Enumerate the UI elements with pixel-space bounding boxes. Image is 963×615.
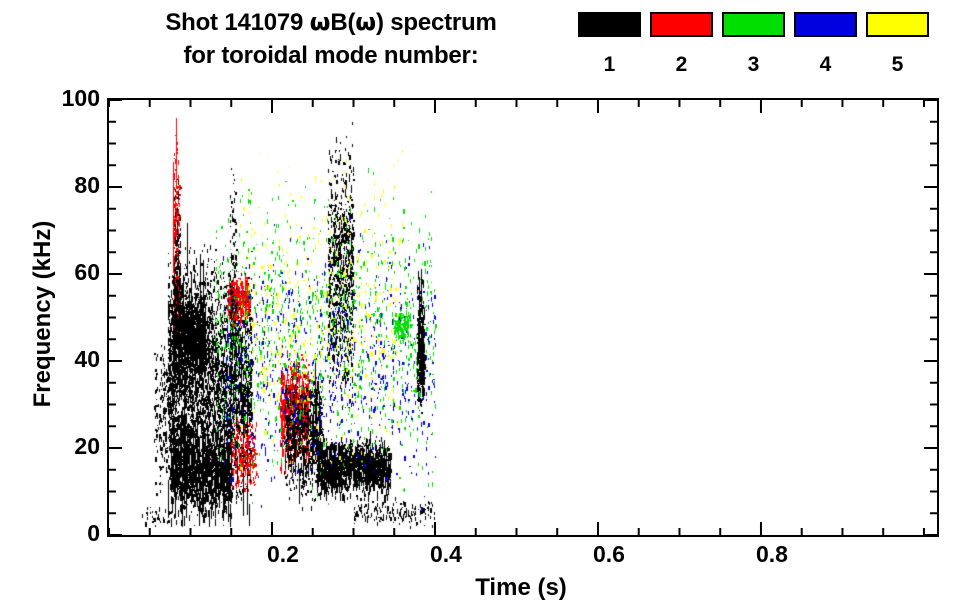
legend-swatch-row <box>578 12 929 37</box>
legend-swatch-mode-3 <box>722 12 785 37</box>
legend-swatch-mode-4 <box>794 12 857 37</box>
legend-label-mode-5: 5 <box>866 52 929 78</box>
spectrogram-figure: Shot 141079 ωB(ω) spectrum for toroidal … <box>0 0 963 615</box>
y-axis-title: Frequency (kHz) <box>29 194 57 434</box>
x-tick-label-0-4: 0.4 <box>406 541 486 567</box>
chart-title: Shot 141079 ωB(ω) spectrum for toroidal … <box>96 6 566 72</box>
plot-area <box>107 98 939 537</box>
x-axis-tick-labels: 0.2 0.4 0.6 0.8 <box>107 541 935 571</box>
legend-swatch-mode-5 <box>866 12 929 37</box>
x-axis-title: Time (s) <box>107 574 935 602</box>
legend: 1 2 3 4 5 <box>578 12 953 92</box>
x-tick-label-0-6: 0.6 <box>569 541 649 567</box>
chart-title-line-1: Shot 141079 ωB(ω) spectrum <box>96 6 566 39</box>
legend-label-mode-2: 2 <box>650 52 713 78</box>
legend-swatch-mode-2 <box>650 12 713 37</box>
legend-label-mode-4: 4 <box>794 52 857 78</box>
legend-label-row: 1 2 3 4 5 <box>578 52 929 78</box>
legend-label-mode-1: 1 <box>578 52 641 78</box>
y-tick-label-100: 100 <box>30 87 100 110</box>
x-tick-label-0-8: 0.8 <box>732 541 812 567</box>
chart-title-line-2: for toroidal mode number: <box>96 39 566 72</box>
omega-symbol-1: ω <box>310 8 331 36</box>
y-tick-label-0: 0 <box>30 522 100 545</box>
y-tick-label-20: 20 <box>30 435 100 458</box>
spectrogram-canvas <box>109 100 937 535</box>
legend-swatch-mode-1 <box>578 12 641 37</box>
x-tick-label-0-2: 0.2 <box>243 541 323 567</box>
legend-label-mode-3: 3 <box>722 52 785 78</box>
omega-symbol-2: ω <box>355 8 376 36</box>
